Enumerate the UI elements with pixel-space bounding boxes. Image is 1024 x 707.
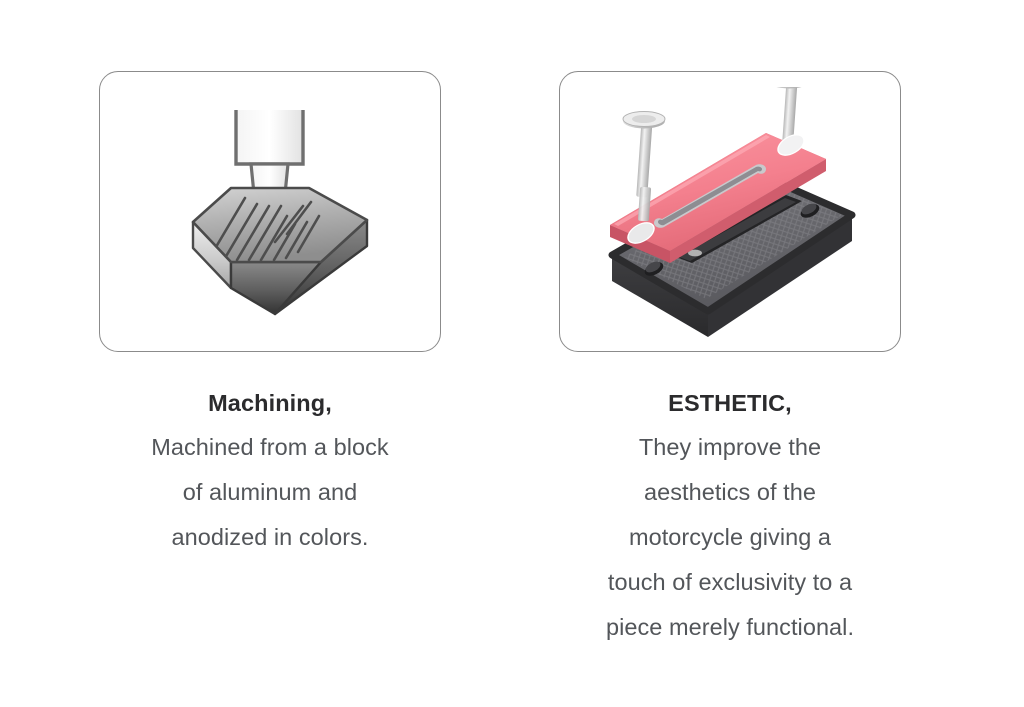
body-line: of aluminum and xyxy=(70,470,470,515)
body-line: touch of exclusivity to a xyxy=(530,560,930,605)
cnc-milling-icon xyxy=(135,102,405,322)
feature-item-machining: Machining, Machined from a block of alum… xyxy=(55,0,485,560)
caption-esthetic: ESTHETIC, They improve the aesthetics of… xyxy=(530,381,930,650)
caption-machining: Machining, Machined from a block of alum… xyxy=(70,381,470,560)
body-line: anodized in colors. xyxy=(70,515,470,560)
body-line: motorcycle giving a xyxy=(530,515,930,560)
icon-card-machining xyxy=(99,71,441,352)
feature-body-esthetic: They improve the aesthetics of the motor… xyxy=(530,425,930,650)
feature-title-esthetic: ESTHETIC, xyxy=(530,381,930,425)
feature-title-machining: Machining, xyxy=(70,381,470,425)
icon-card-esthetic xyxy=(559,71,901,352)
feature-grid: Machining, Machined from a block of alum… xyxy=(0,0,1024,707)
body-line: They improve the xyxy=(530,425,930,470)
body-line: Machined from a block xyxy=(70,425,470,470)
anodized-bracket-icon xyxy=(580,87,880,337)
body-line: aesthetics of the xyxy=(530,470,930,515)
body-line: piece merely functional. xyxy=(530,605,930,650)
feature-body-machining: Machined from a block of aluminum and an… xyxy=(70,425,470,560)
feature-item-esthetic: ESTHETIC, They improve the aesthetics of… xyxy=(515,0,945,650)
